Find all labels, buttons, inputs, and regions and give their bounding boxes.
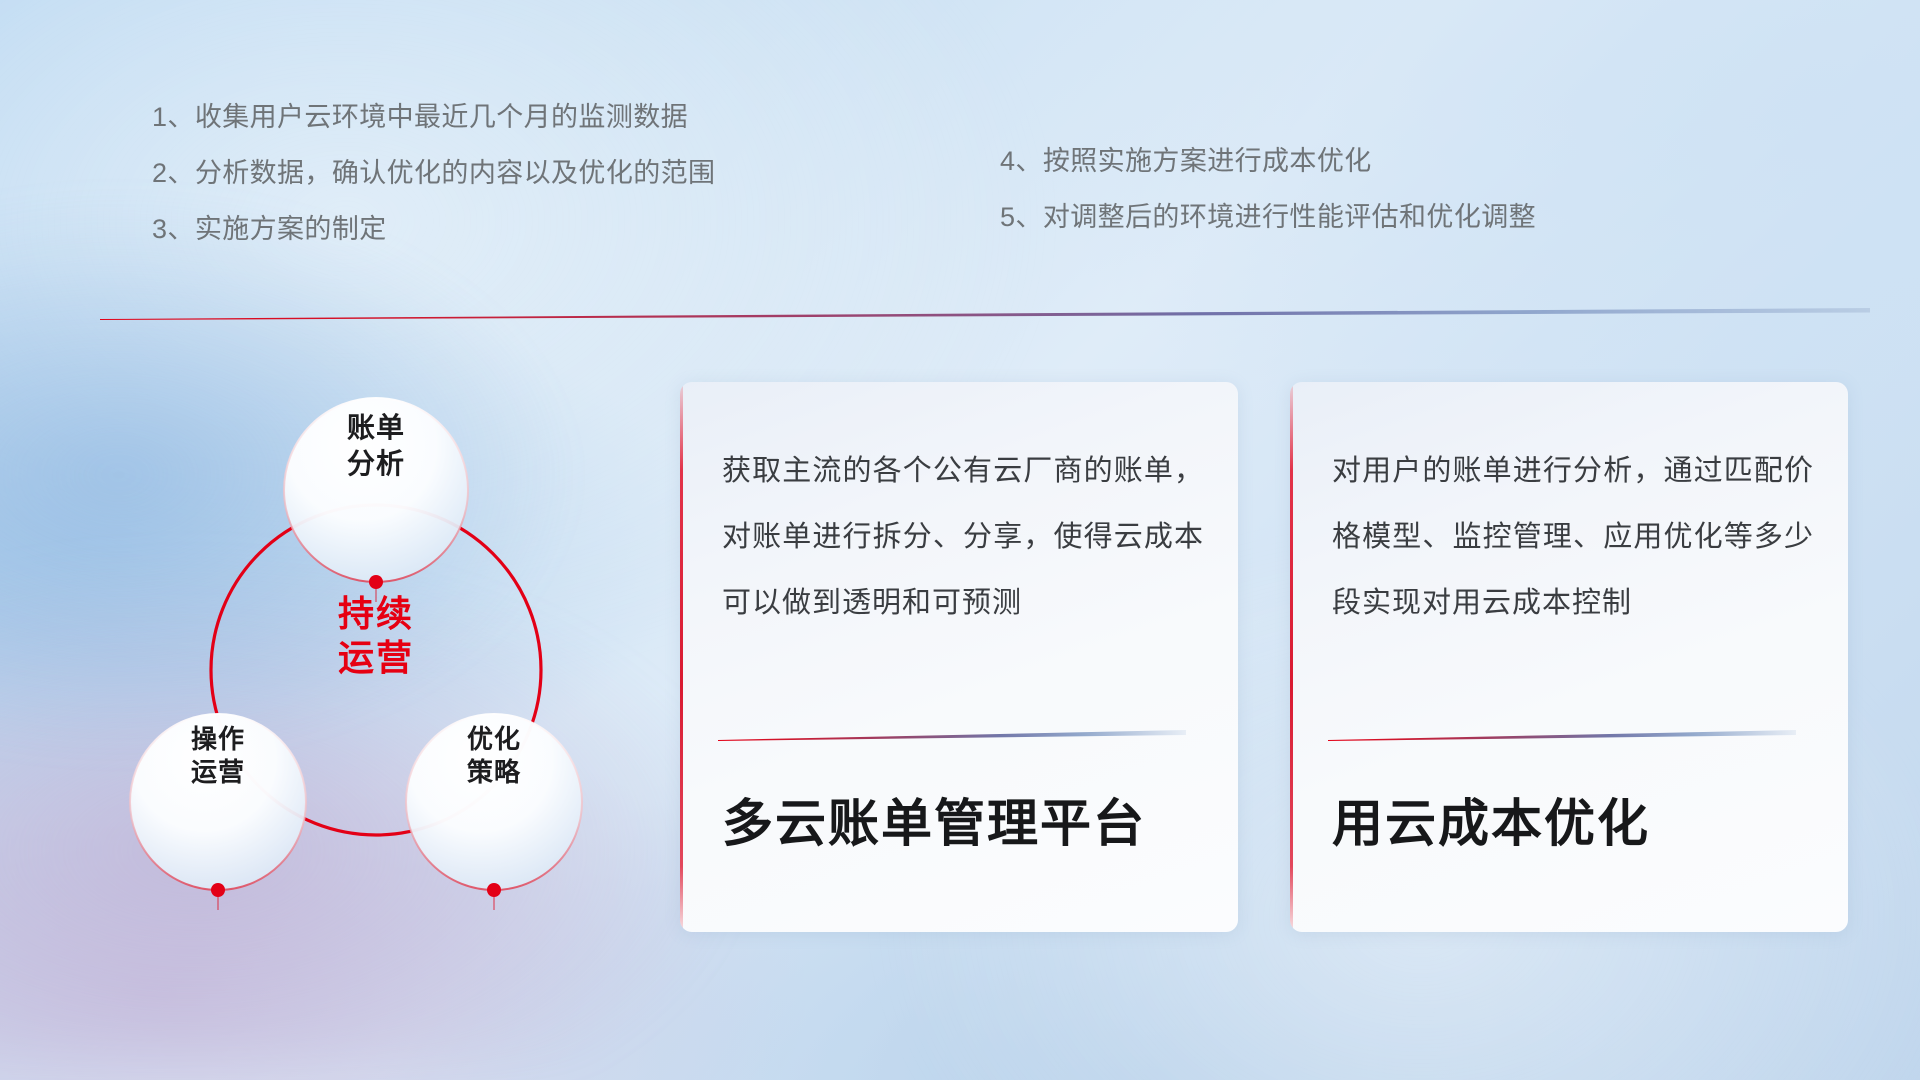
feature-card-list: 获取主流的各个公有云厂商的账单，对账单进行拆分、分享，使得云成本可以做到透明和可…	[680, 382, 1848, 932]
process-steps-left-column: 1、收集用户云环境中最近几个月的监测数据 2、分析数据，确认优化的内容以及优化的…	[152, 104, 715, 272]
venn-label-operations: 操作 运营	[138, 723, 298, 790]
venn-label-optimization-strategy: 优化 策略	[414, 723, 574, 790]
feature-card-divider	[718, 730, 1186, 741]
feature-card[interactable]: 获取主流的各个公有云厂商的账单，对账单进行拆分、分享，使得云成本可以做到透明和可…	[680, 382, 1238, 932]
process-steps: 1、收集用户云环境中最近几个月的监测数据 2、分析数据，确认优化的内容以及优化的…	[0, 104, 1920, 284]
venn-label-bill-analysis: 账单 分析	[296, 410, 456, 482]
feature-card-description: 对用户的账单进行分析，通过匹配价格模型、监控管理、应用优化等多少段实现对用云成本…	[1332, 438, 1814, 636]
feature-card-title: 多云账单管理平台	[722, 782, 1146, 856]
header-gradient-divider	[100, 308, 1870, 320]
process-steps-right-column: 4、按照实施方案进行成本优化 5、对调整后的环境进行性能评估和优化调整	[1000, 148, 1536, 260]
feature-card[interactable]: 对用户的账单进行分析，通过匹配价格模型、监控管理、应用优化等多少段实现对用云成本…	[1290, 382, 1848, 932]
continuous-operation-venn-diagram: 账单 分析 持续 运营 操作 运营 优化 策略	[96, 350, 656, 960]
venn-label-continuous-operation: 持续 运营	[281, 592, 471, 680]
feature-card-title: 用云成本优化	[1332, 782, 1650, 856]
process-step-item: 2、分析数据，确认优化的内容以及优化的范围	[152, 160, 715, 187]
feature-card-description: 获取主流的各个公有云厂商的账单，对账单进行拆分、分享，使得云成本可以做到透明和可…	[722, 438, 1204, 636]
process-step-item: 4、按照实施方案进行成本优化	[1000, 148, 1536, 175]
process-step-item: 3、实施方案的制定	[152, 216, 715, 243]
feature-card-divider	[1328, 730, 1796, 741]
process-step-item: 5、对调整后的环境进行性能评估和优化调整	[1000, 204, 1536, 231]
process-step-item: 1、收集用户云环境中最近几个月的监测数据	[152, 104, 715, 131]
